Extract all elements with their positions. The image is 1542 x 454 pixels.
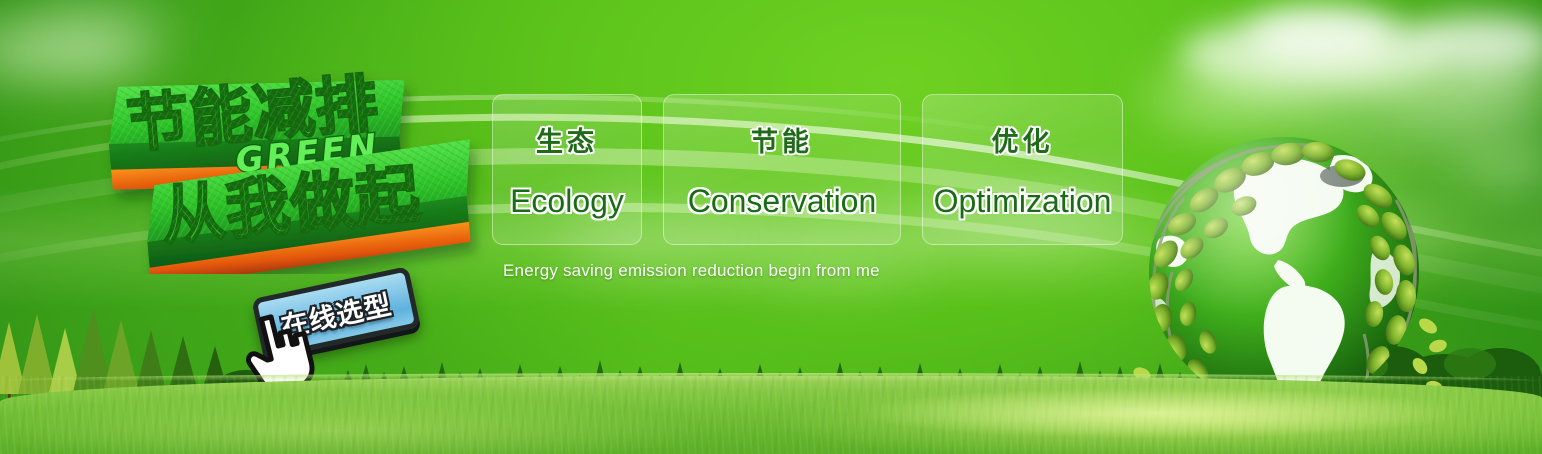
feature-card-cn-label: 优化	[992, 120, 1054, 159]
banner-tagline: Energy saving emission reduction begin f…	[503, 261, 880, 281]
feature-card-cn-label: 节能	[751, 120, 813, 159]
grass-field-icon	[0, 376, 1542, 454]
feature-card-conservation[interactable]: 节能 Conservation	[663, 94, 901, 245]
feature-card-cn-label: 生态	[536, 120, 598, 159]
feature-card-en-label: Optimization	[934, 183, 1112, 220]
online-selection-cta[interactable]: 在线选型	[252, 272, 427, 364]
eco-promo-banner: 节能减排 节能减排 GREEN GREEN 从我做起 从我做起	[0, 0, 1542, 454]
feature-card-en-label: Conservation	[688, 183, 877, 220]
grass-highlight	[848, 384, 1542, 442]
feature-card-ecology[interactable]: 生态 Ecology	[492, 94, 642, 245]
hero-3d-title: 节能减排 节能减排 GREEN GREEN 从我做起 从我做起	[96, 34, 496, 274]
feature-card-en-label: Ecology	[510, 183, 624, 220]
feature-cards: 生态 Ecology 节能 Conservation 优化 Optimizati…	[492, 94, 1123, 245]
feature-card-optimization[interactable]: 优化 Optimization	[922, 94, 1123, 245]
